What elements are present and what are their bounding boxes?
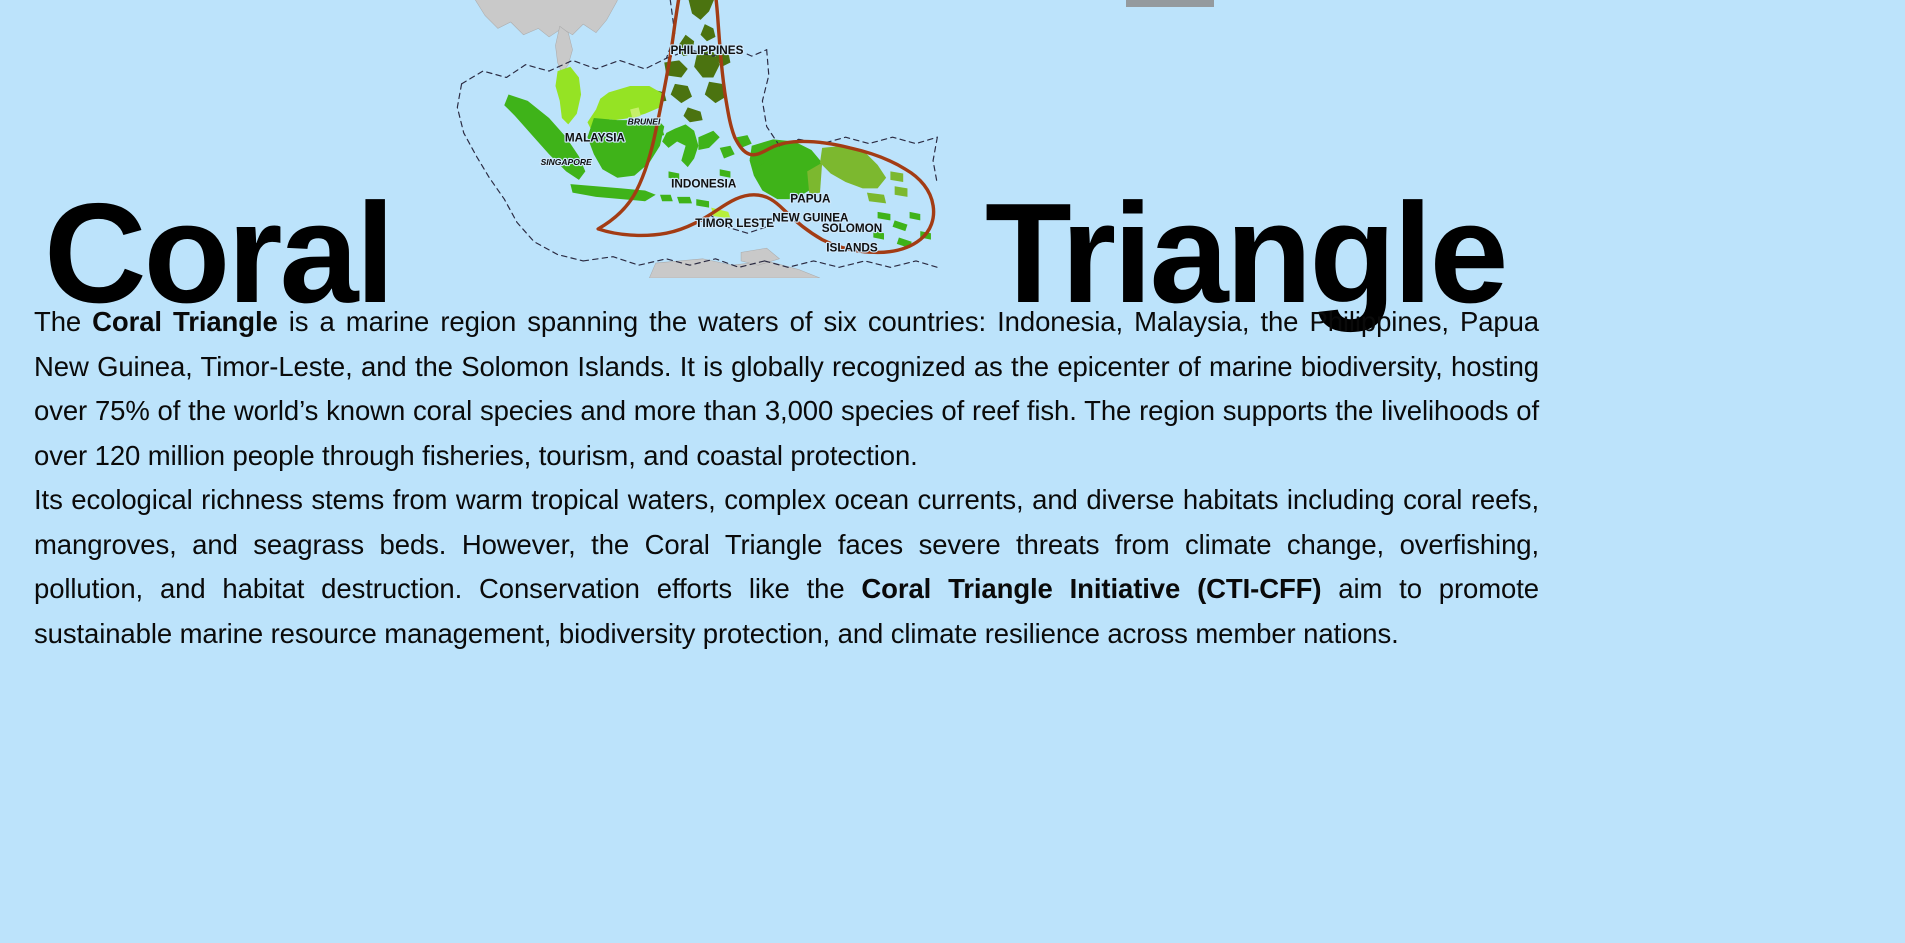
map-label-timor-leste: TIMOR LESTE [695, 217, 774, 230]
map-label-islands: ISLANDS [826, 241, 878, 254]
map-label-malaysia: MALAYSIA [565, 131, 626, 144]
map-svg: PHILIPPINES BRUNEI MALAYSIA SINGAPORE IN… [372, 0, 1012, 278]
paragraph-overview: The Coral Triangle is a marine region sp… [34, 300, 1539, 478]
coral-triangle-map: PHILIPPINES BRUNEI MALAYSIA SINGAPORE IN… [372, 0, 1012, 278]
map-label-brunei: BRUNEI [628, 116, 661, 126]
map-label-philippines: PHILIPPINES [670, 44, 743, 57]
map-label-singapore: SINGAPORE [541, 157, 592, 167]
map-scalebar-artifact [1126, 0, 1214, 7]
map-label-solomon: SOLOMON [822, 222, 883, 235]
hero-banner: Coral [0, 0, 1905, 340]
article-body: The Coral Triangle is a marine region sp… [34, 300, 1539, 656]
map-label-indonesia: INDONESIA [671, 177, 737, 190]
paragraph-ecology-threats: Its ecological richness stems from warm … [34, 478, 1539, 656]
map-label-papua: PAPUA [790, 192, 831, 205]
